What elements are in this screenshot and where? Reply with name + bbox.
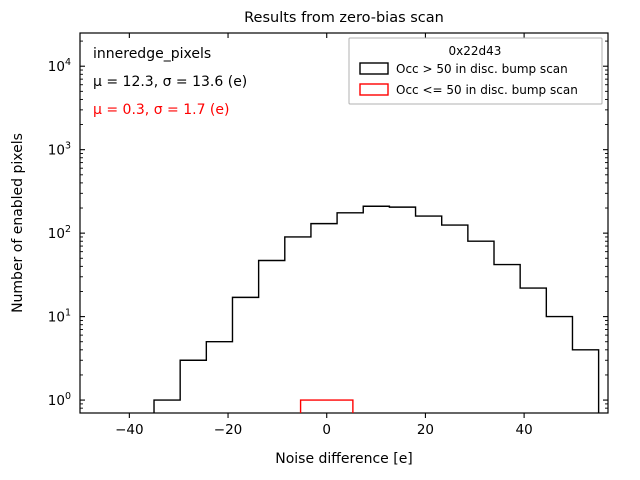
x-tick-label: 20 <box>417 422 434 438</box>
histogram-occ-le-50 <box>301 400 353 413</box>
y-tick-label: 101 <box>48 308 71 326</box>
x-axis-label: Noise difference [e] <box>275 451 413 467</box>
x-axis-tick-labels: −40−2002040 <box>115 422 533 438</box>
chart-title: Results from zero-bias scan <box>244 10 444 26</box>
chart-canvas: Results from zero-bias scan 100101102103… <box>0 0 640 480</box>
y-axis-label: Number of enabled pixels <box>10 133 26 313</box>
y-axis-tick-labels: 100101102103104 <box>48 57 71 409</box>
x-tick-label: 40 <box>516 422 533 438</box>
x-tick-label: 0 <box>322 422 331 438</box>
y-tick-label: 100 <box>48 391 71 409</box>
y-tick-label: 102 <box>48 224 71 242</box>
legend-label-occ-gt-50: Occ > 50 in disc. bump scan <box>396 62 568 76</box>
y-tick-label: 103 <box>48 141 71 159</box>
legend-title: 0x22d43 <box>449 44 502 58</box>
legend-label-occ-le-50: Occ <= 50 in disc. bump scan <box>396 83 578 97</box>
chart-legend[interactable]: 0x22d43 Occ > 50 in disc. bump scan Occ … <box>349 38 602 104</box>
x-tick-label: −40 <box>115 422 144 438</box>
histogram-occ-gt-50 <box>154 206 599 413</box>
x-tick-label: −20 <box>214 422 243 438</box>
histogram-series <box>154 206 599 413</box>
annotation-stats-red: μ = 0.3, σ = 1.7 (e) <box>93 102 229 118</box>
y-tick-label: 104 <box>48 57 71 75</box>
annotation-stats-black: μ = 12.3, σ = 13.6 (e) <box>93 74 247 90</box>
annotation-dataset-label: inneredge_pixels <box>93 46 211 62</box>
chart-figure: Results from zero-bias scan 100101102103… <box>0 0 640 480</box>
